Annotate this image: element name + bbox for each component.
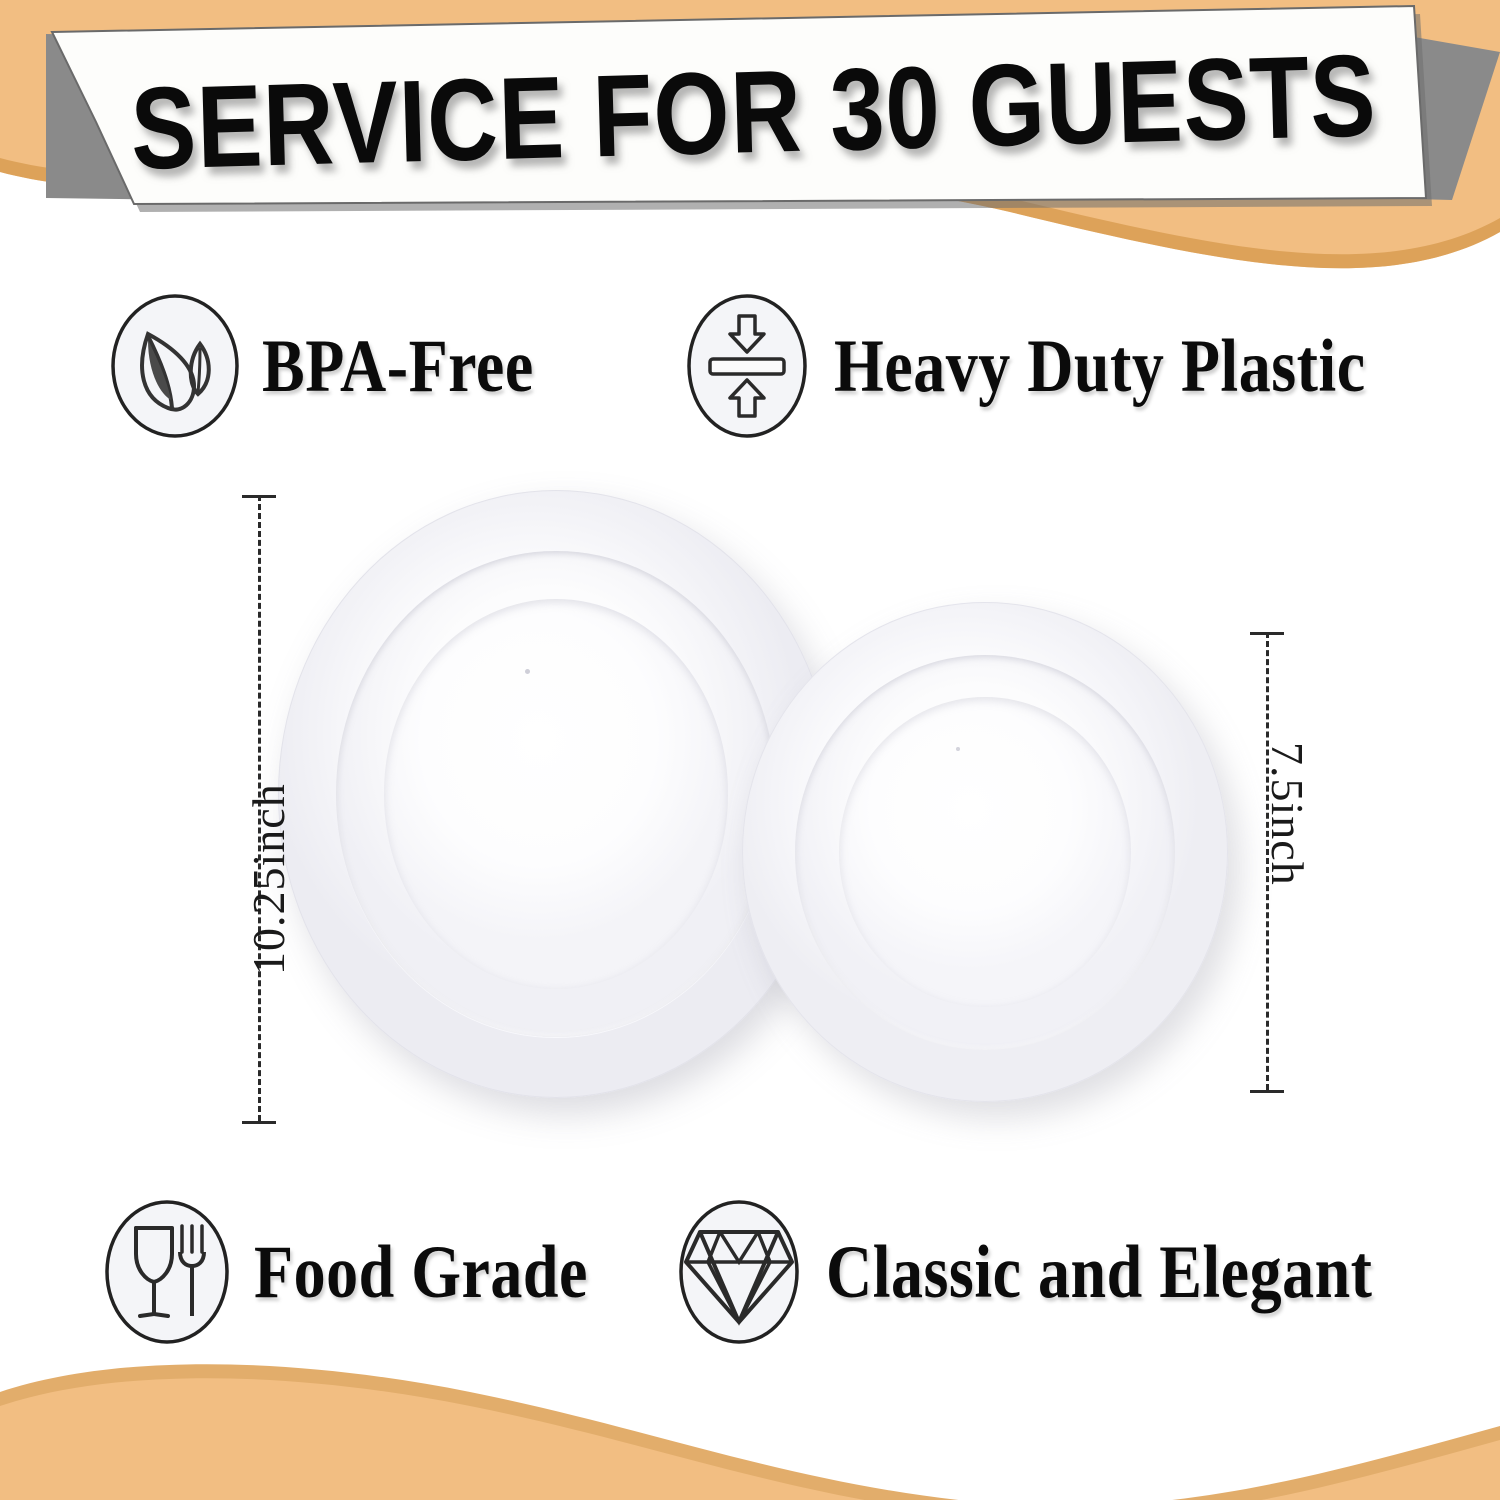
dimension-cap-bottom: [242, 1121, 276, 1124]
bottom-orange-wave-edge: [0, 1364, 1500, 1500]
feature-label: Heavy Duty Plastic: [834, 328, 1366, 404]
feature-label: Food Grade: [254, 1234, 588, 1310]
dimension-cap-top: [242, 495, 276, 498]
dimension-label: 7.5inch: [1261, 742, 1314, 886]
page-title: SERVICE FOR 30 GUESTS: [130, 29, 1379, 196]
product-infographic: SERVICE FOR 30 GUESTS BPA-Free: [0, 0, 1500, 1500]
dessert-plate-image: [742, 602, 1228, 1102]
feature-bpa-free[interactable]: BPA-Free: [108, 290, 534, 442]
dimension-label: 10.25inch: [242, 783, 295, 975]
feature-label: BPA-Free: [262, 328, 534, 404]
glass-and-fork-icon: [100, 1196, 234, 1348]
feature-heavy-duty-plastic[interactable]: Heavy Duty Plastic: [680, 290, 1366, 442]
banner-title-wrap: SERVICE FOR 30 GUESTS: [0, 0, 1500, 250]
plate-well: [384, 599, 729, 988]
compression-arrows-icon: [680, 290, 814, 442]
plate-well: [839, 697, 1131, 1007]
banner: SERVICE FOR 30 GUESTS: [0, 0, 1500, 260]
leaves-icon: [108, 290, 242, 442]
feature-food-grade[interactable]: Food Grade: [100, 1196, 588, 1348]
feature-row-top: BPA-Free Heavy Duty Plastic: [0, 288, 1500, 448]
plate-speck: [956, 747, 960, 751]
dimension-cap-bottom: [1250, 1090, 1284, 1093]
feature-classic-and-elegant[interactable]: Classic and Elegant: [672, 1196, 1372, 1348]
bottom-orange-wave-shape: [0, 1378, 1500, 1500]
diamond-icon: [672, 1196, 806, 1348]
feature-label: Classic and Elegant: [826, 1234, 1372, 1310]
dimension-cap-top: [1250, 632, 1284, 635]
feature-row-bottom: Food Grade Classic and Elegant: [0, 1196, 1500, 1356]
